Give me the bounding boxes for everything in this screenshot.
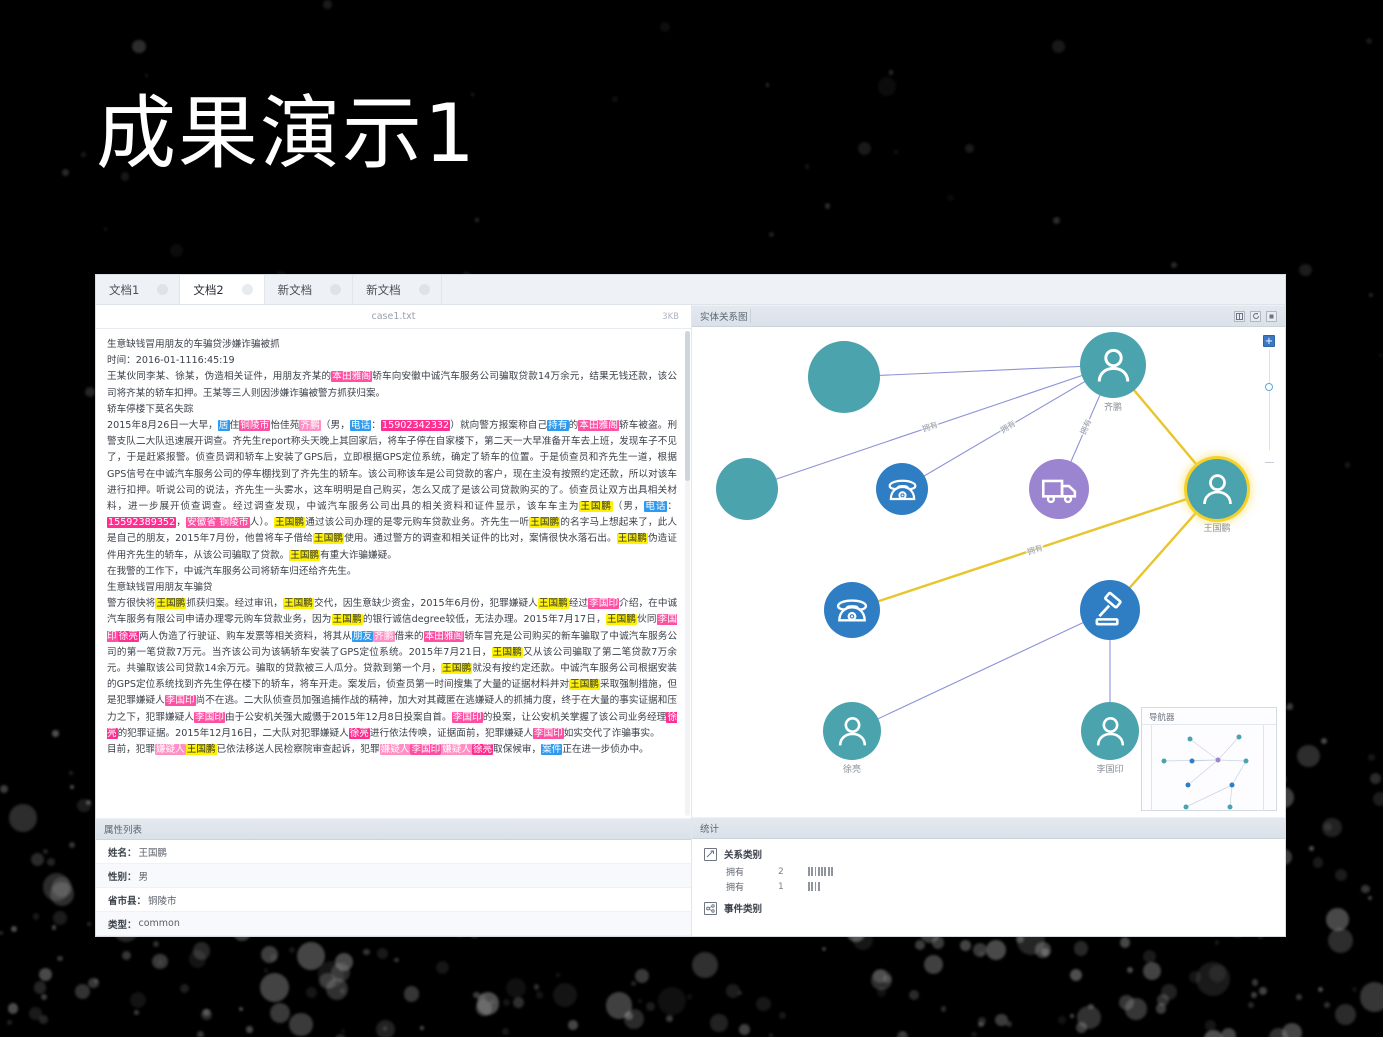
tab-label: 新文档 — [278, 282, 313, 298]
zoom-slider[interactable]: + — [1263, 335, 1277, 463]
attributes-panel-title: 属性列表 — [104, 822, 142, 836]
header-divider — [750, 309, 751, 323]
attribute-row: 姓名： 王国鹏 — [96, 840, 691, 864]
entity-relation-hold: 持有 — [547, 420, 568, 431]
entity-person-liguoyin: 李国印 — [410, 744, 441, 755]
document-text: 生意缺钱冒用朋友的车骗贷涉嫌诈骗被抓 时间：2016-01-1116:45:19… — [96, 329, 691, 818]
text-run: 交代，因生意缺少资金，2015年6月份，犯罪嫌疑人 — [314, 598, 538, 609]
zoom-slider-rail[interactable] — [1269, 350, 1271, 450]
graph-panel-title: 实体关系图 — [700, 309, 748, 323]
minimap-node-dot — [1186, 783, 1191, 788]
text-run: 已依法移送人民检察院审查起诉，犯罪 — [217, 744, 380, 755]
tab-label: 文档2 — [193, 282, 223, 298]
graph-node-truck[interactable] — [1029, 459, 1089, 519]
tab-label: 文档1 — [109, 282, 139, 298]
attributes-panel: 属性列表 姓名： 王国鹏 性别： 男 省市县： 铜陵市 类型： common — [96, 818, 691, 936]
text-run: 取保候审， — [493, 744, 541, 755]
document-scrollbar[interactable] — [685, 331, 690, 816]
entity-person-xuliang: 徐亮 — [349, 728, 370, 739]
text-run: 的 — [569, 420, 579, 431]
entity-person-wangguopeng: 王国鹏 — [538, 598, 569, 609]
entity-person-wangguopeng: 王国鹏 — [606, 614, 637, 625]
text-run: 住 — [230, 420, 240, 431]
tab-new-document-1[interactable]: 新文档 — [265, 275, 354, 304]
entity-case: 案件 — [541, 744, 562, 755]
graph-node-person[interactable] — [1080, 332, 1146, 398]
tab-document-2[interactable]: 文档2 — [180, 275, 264, 304]
stat-group-label: 事件类别 — [724, 901, 762, 915]
attribute-value: common — [139, 918, 180, 929]
entity-live: 居 — [218, 420, 230, 431]
tab-strip-filler — [442, 275, 1285, 304]
entity-graph-panel: 实体关系图 — [692, 305, 1285, 817]
phone-icon — [833, 591, 871, 629]
entity-person-liguoyin: 李国印 — [588, 598, 619, 609]
stat-group-title: 事件类别 — [704, 901, 1285, 915]
statistics-body: 关系类别 拥有 2 拥有 1 — [692, 839, 1285, 922]
minimap-body[interactable] — [1142, 725, 1276, 811]
stat-count: 2 — [778, 867, 808, 877]
text-run: 使用。通过警方的调查和相关证件的比对，案情很快水落石出。 — [344, 533, 617, 544]
entity-person-wangguopeng: 王国鹏 — [332, 614, 363, 625]
tab-strip: 文档1 文档2 新文档 新文档 — [96, 275, 1285, 305]
stat-group-title: 关系类别 — [704, 847, 1285, 861]
zoom-out-button[interactable] — [1265, 462, 1274, 464]
stat-row: 拥有 1 — [704, 879, 1285, 894]
stat-row: 拥有 2 — [704, 864, 1285, 879]
text-run: ： — [667, 501, 677, 512]
doc-section-1: 轿车停楼下莫名失踪 — [107, 402, 677, 418]
close-icon[interactable] — [419, 284, 430, 295]
doc-lead-paragraph: 王某伙同李某、徐某，伪造相关证件，用朋友齐某的本田雅阁轿车向安徽中诚汽车服务公司… — [107, 369, 677, 401]
scrollbar-thumb[interactable] — [685, 331, 690, 481]
attribute-row: 性别： 男 — [96, 864, 691, 888]
file-name: case1.txt — [372, 311, 416, 322]
entity-person-wangguopeng: 王国鹏 — [283, 598, 314, 609]
entity-phone-label: 电话 — [644, 501, 667, 512]
text-run: （男， — [321, 420, 350, 431]
graph-panel-header: 实体关系图 — [692, 305, 1285, 327]
entity-person-wangguopeng: 王国鹏 — [313, 533, 344, 544]
file-header: case1.txt 3KB — [96, 305, 691, 329]
statistics-panel-title: 统计 — [700, 821, 719, 835]
text-run: 人）。 — [250, 517, 274, 528]
stat-label: 拥有 — [726, 865, 778, 878]
text-run: 怡佳苑 — [270, 420, 299, 431]
text-run: 王某伙同李某、徐某，伪造相关证件，用朋友齐某的 — [107, 371, 331, 382]
stat-count: 1 — [778, 882, 808, 892]
entity-person-wangguopeng: 王国鹏 — [186, 744, 217, 755]
refresh-icon[interactable] — [1250, 311, 1261, 322]
entity-person-wangguopeng: 王国鹏 — [617, 533, 648, 544]
entity-suspect: 嫌疑人 — [441, 744, 472, 755]
graph-node-person[interactable] — [823, 702, 881, 760]
attribute-key: 性别： — [108, 869, 137, 883]
graph-node-label: 王国鹏 — [1203, 521, 1230, 534]
graph-node-label: 齐鹏 — [1104, 400, 1122, 413]
text-run: 经过 — [569, 598, 588, 609]
entity-suspect: 嫌疑人 — [155, 744, 186, 755]
stat-bars — [808, 867, 833, 876]
graph-node-phone[interactable] — [876, 463, 928, 515]
gavel-icon — [1090, 590, 1131, 631]
entity-suspect: 嫌疑人 — [380, 744, 411, 755]
stat-group-events: 事件类别 — [704, 901, 1285, 915]
entity-person-liguoyin: 李国印 — [165, 695, 196, 706]
close-icon[interactable] — [157, 284, 168, 295]
entity-phone-number: 15592389352 — [107, 517, 176, 528]
doc-paragraph-3: 警方很快将王国鹏抓获归案。经过审讯，王国鹏交代，因生意缺少资金，2015年6月份… — [107, 596, 677, 742]
attribute-row: 类型： common — [96, 912, 691, 936]
entity-person-wangguopeng: 王国鹏 — [569, 679, 600, 690]
person-icon — [833, 712, 872, 751]
text-run: 由于公安机关强大威慑于2015年12月8日投案自首。 — [225, 712, 452, 723]
entity-person-wangguopeng: 王国鹏 — [579, 501, 613, 512]
minimap-node-dot — [1190, 759, 1195, 764]
zoom-in-button[interactable]: + — [1263, 335, 1275, 347]
entity-relation-friend: 朋友 — [352, 631, 373, 642]
minimap-node-dot — [1228, 805, 1233, 810]
person-icon — [1091, 343, 1136, 388]
text-run: 的投案，让公安机关掌握了该公司业务经理 — [483, 712, 667, 723]
entity-phone-label: 电话 — [350, 420, 371, 431]
text-run: ）就向警方报案称自己 — [450, 420, 547, 431]
attribute-key: 姓名： — [108, 845, 137, 859]
entity-city: 铜陵市 — [239, 420, 270, 431]
text-run: 借来的 — [395, 631, 424, 642]
attribute-value: 男 — [139, 869, 149, 883]
relation-icon — [704, 848, 717, 861]
minimap-node-dot — [1162, 759, 1167, 764]
entity-person-xuliang: 徐亮 — [118, 631, 139, 642]
entity-graph-canvas[interactable]: 拥有拥有拥有拥有齐鹏王国鹏徐亮李国印 + 导航器 — [692, 327, 1285, 817]
minimap-panel[interactable]: 导航器 — [1141, 707, 1277, 811]
tab-label: 新文档 — [366, 282, 401, 298]
attribute-key: 类型： — [108, 917, 137, 931]
text-run: 2015年8月26日一大早， — [107, 420, 218, 431]
text-run: 警方很快将 — [107, 598, 155, 609]
entity-person-xuliang: 徐亮 — [472, 744, 493, 755]
entity-vehicle: 本田雅阁 — [578, 420, 619, 431]
graph-node-blank[interactable] — [716, 458, 778, 520]
text-run: （男， — [613, 501, 645, 512]
graph-edge[interactable] — [844, 365, 1113, 377]
doc-paragraph-4: 目前，犯罪嫌疑人王国鹏已依法移送人民检察院审查起诉，犯罪嫌疑人李国印嫌疑人徐亮取… — [107, 742, 677, 758]
entity-vehicle: 本田雅阁 — [424, 631, 465, 642]
text-run: 如实交代了诈骗事实。 — [564, 728, 660, 739]
text-run: ， — [176, 517, 186, 528]
minimap-node-dot — [1237, 735, 1242, 740]
event-icon — [704, 902, 717, 915]
text-run: 轿车被盗。刑警支队二大队迅速展开调查。齐先生report称头天晚上其回家后，将车… — [107, 420, 677, 512]
statistics-panel-header: 统计 — [692, 817, 1285, 839]
text-run: 有重大诈骗嫌疑。 — [320, 550, 397, 561]
graph-node-label: 李国印 — [1096, 762, 1123, 775]
application-window: 文档1 文档2 新文档 新文档 case1.txt 3KB 生意缺钱冒用朋友 — [96, 275, 1285, 936]
attribute-row: 省市县： 铜陵市 — [96, 888, 691, 912]
entity-person-liguoyin: 李国印 — [194, 712, 225, 723]
person-icon — [1091, 712, 1130, 751]
text-run: 抓获归案。经过审讯， — [186, 598, 283, 609]
stat-group-label: 关系类别 — [724, 847, 762, 861]
layout-icon[interactable] — [1234, 311, 1245, 322]
tab-new-document-2[interactable]: 新文档 — [353, 275, 442, 304]
entity-person-wangguopeng: 王国鹏 — [529, 517, 560, 528]
file-size: 3KB — [662, 312, 679, 322]
doc-time: 时间：2016-01-1116:45:19 — [107, 353, 677, 369]
phone-icon — [885, 472, 920, 507]
graph-node-gavel[interactable] — [1080, 580, 1140, 640]
attribute-key: 省市县： — [108, 893, 146, 907]
entity-person-qipeng: 齐鹏 — [299, 420, 320, 431]
entity-phone-number: 15902342332 — [381, 420, 450, 431]
stat-group-relations: 关系类别 拥有 2 拥有 1 — [704, 847, 1285, 894]
document-viewer[interactable]: 生意缺钱冒用朋友的车骗贷涉嫌诈骗被抓 时间：2016-01-1116:45:19… — [96, 329, 691, 818]
application-body: case1.txt 3KB 生意缺钱冒用朋友的车骗贷涉嫌诈骗被抓 时间：2016… — [96, 305, 1285, 936]
graph-node-person[interactable] — [1081, 702, 1139, 760]
text-run: 的犯罪证据。2015年12月16日，二大队对犯罪嫌疑人 — [118, 728, 349, 739]
doc-paragraph-2: 在我警的工作下，中诚汽车服务公司将轿车归还给齐先生。 — [107, 564, 677, 580]
minimap-node-dot — [1216, 758, 1221, 763]
stat-bars — [808, 882, 820, 891]
graph-node-phone[interactable] — [824, 582, 880, 638]
attribute-value: 铜陵市 — [148, 893, 177, 907]
left-column: case1.txt 3KB 生意缺钱冒用朋友的车骗贷涉嫌诈骗被抓 时间：2016… — [96, 305, 692, 936]
entity-person-qipeng: 齐鹏 — [373, 631, 394, 642]
graph-edge[interactable] — [852, 610, 1110, 731]
tab-document-1[interactable]: 文档1 — [96, 275, 180, 304]
text-run: 进行依法传唤，证据面前，犯罪嫌疑人 — [370, 728, 533, 739]
text-run: 伙同 — [637, 614, 657, 625]
entity-person-liguoyin: 李国印 — [533, 728, 564, 739]
entity-person-wangguopeng: 王国鹏 — [441, 663, 472, 674]
fullscreen-icon[interactable] — [1266, 311, 1277, 322]
stat-label: 拥有 — [726, 880, 778, 893]
truck-icon — [1039, 469, 1080, 510]
entity-person-wangguopeng: 王国鹏 — [155, 598, 186, 609]
minimap-node-dot — [1230, 783, 1235, 788]
text-run: 的银行诚信degree较低，无法办理。2015年7月17日， — [363, 614, 606, 625]
statistics-panel: 统计 关系类别 — [692, 817, 1285, 936]
right-column: 实体关系图 — [692, 305, 1285, 936]
close-icon[interactable] — [330, 284, 341, 295]
slide-title: 成果演示1 — [96, 92, 477, 176]
minimap-node-dot — [1244, 759, 1249, 764]
close-icon[interactable] — [242, 284, 253, 295]
minimap-edges — [1142, 725, 1276, 811]
entity-location: 安徽省 铜陵市 — [186, 517, 250, 528]
text-run: 正在进一步侦办中。 — [562, 744, 648, 755]
graph-node-blank[interactable] — [808, 341, 880, 413]
minimap-node-dot — [1188, 737, 1193, 742]
entity-person-wangguopeng: 王国鹏 — [492, 647, 524, 658]
doc-title: 生意缺钱冒用朋友的车骗贷涉嫌诈骗被抓 — [107, 337, 677, 353]
text-run: ： — [371, 420, 381, 431]
text-run: 两人伪造了行驶证、购车发票等相关资料，将其从 — [139, 631, 352, 642]
entity-person-liguoyin: 李国印 — [452, 712, 483, 723]
zoom-slider-handle[interactable] — [1265, 383, 1273, 391]
text-run: 目前，犯罪 — [107, 744, 155, 755]
minimap-node-dot — [1184, 805, 1189, 810]
attribute-value: 王国鹏 — [139, 845, 168, 859]
doc-paragraph-1: 2015年8月26日一大早，居住铜陵市怡佳苑齐鹏（男，电话：1590234233… — [107, 418, 677, 564]
doc-section-2: 生意缺钱冒用朋友车骗贷 — [107, 580, 677, 596]
text-run: 通过该公司办理的是零元购车贷款业务。齐先生一听 — [305, 517, 529, 528]
entity-person-wangguopeng: 王国鹏 — [289, 550, 320, 561]
entity-vehicle: 本田雅阁 — [331, 371, 372, 382]
entity-person-wangguopeng: 王国鹏 — [274, 517, 305, 528]
graph-panel-buttons — [1234, 311, 1277, 322]
person-icon — [1197, 469, 1238, 510]
graph-node-label: 徐亮 — [843, 762, 861, 775]
graph-node-person[interactable] — [1187, 459, 1247, 519]
attributes-panel-header: 属性列表 — [96, 818, 691, 840]
minimap-title: 导航器 — [1142, 708, 1276, 725]
